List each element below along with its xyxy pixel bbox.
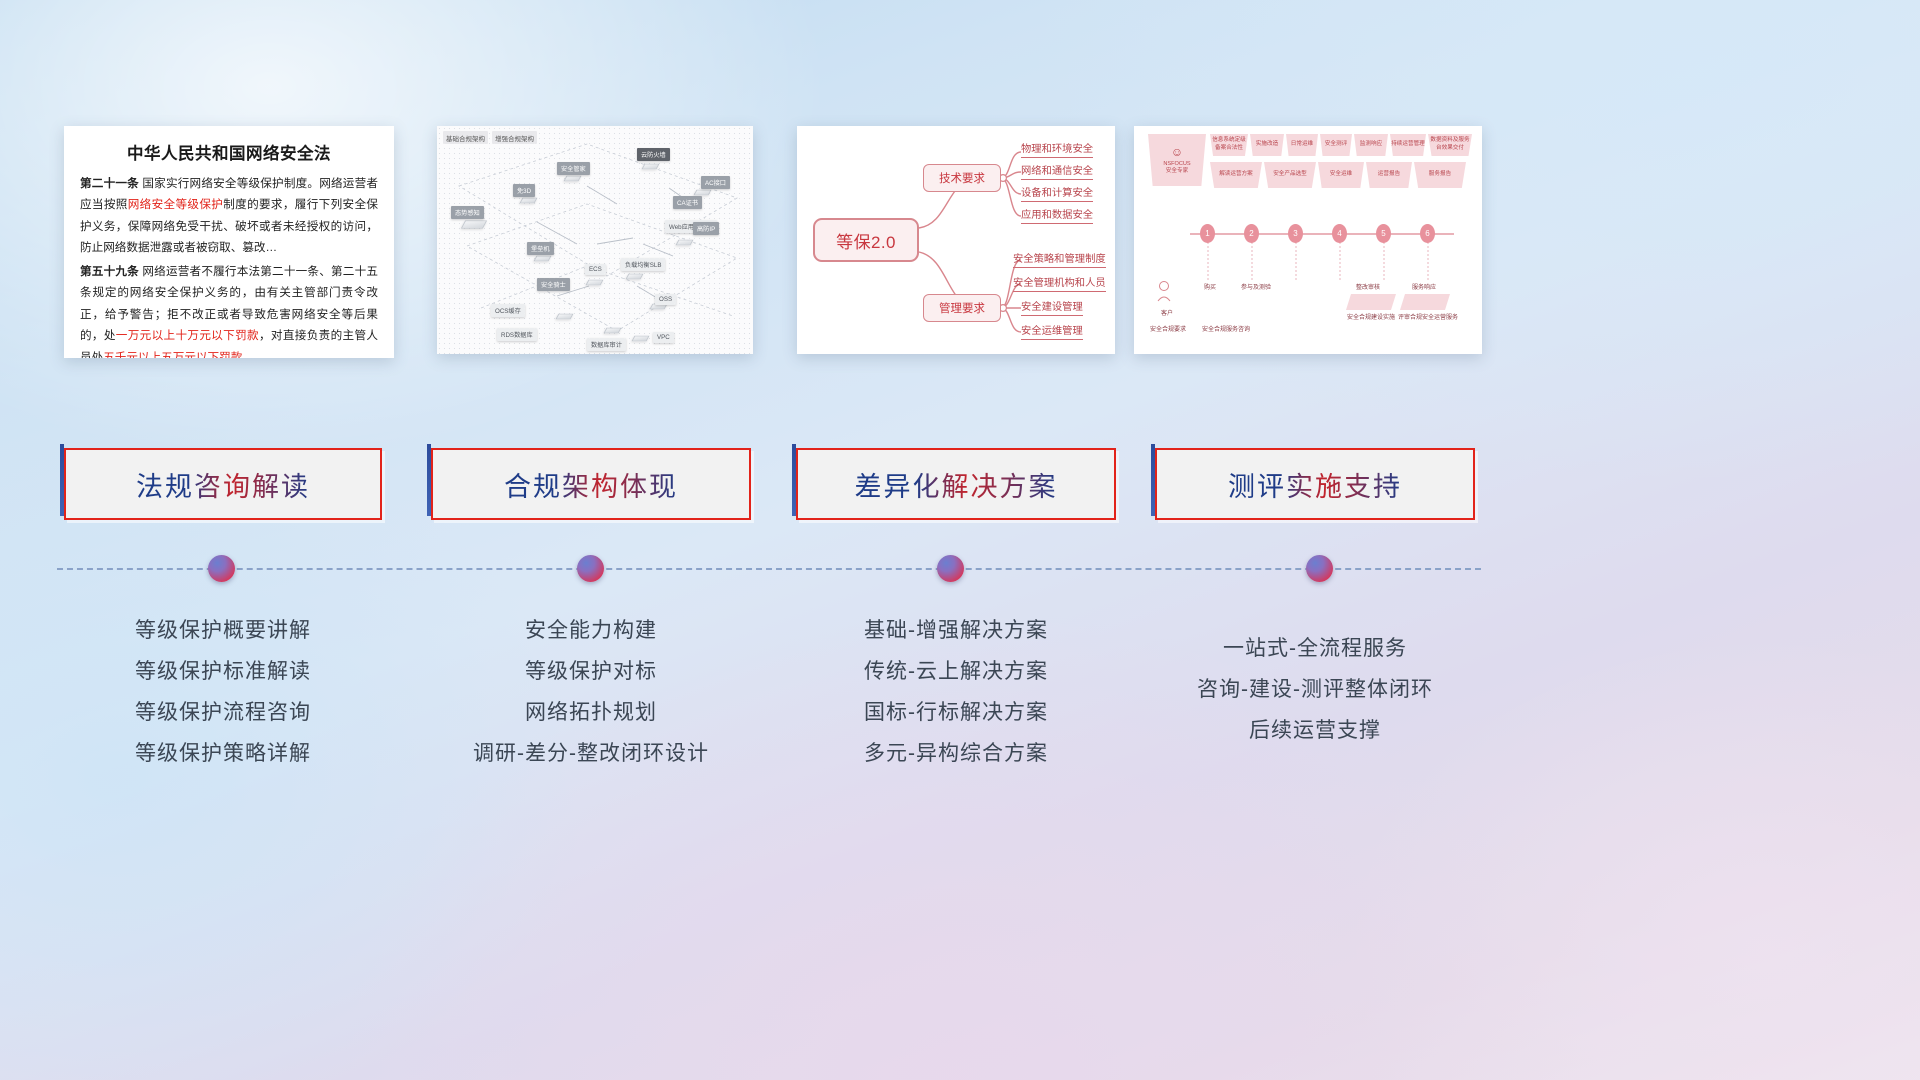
- timeline-dot-1[interactable]: [208, 555, 235, 582]
- article-59-label: 第五十九条: [80, 265, 139, 278]
- node-cloud-firewall: 云防火墙: [637, 148, 670, 161]
- nsfocus-step-1[interactable]: 1: [1200, 224, 1215, 243]
- node-rds-db: RDS数据库: [497, 328, 537, 341]
- timeline-dashed-axis: [57, 568, 1481, 570]
- nsfocus-chevron-6: 持续运营管理: [1390, 134, 1426, 156]
- nsfocus-sub-label-3: 安全合规建设实施: [1342, 312, 1400, 321]
- cube-cloud-firewall: [642, 164, 660, 170]
- article-21-highlight: 网络安全等级保护: [128, 198, 223, 211]
- law-text-block: 中华人民共和国网络安全法 第二十一条 国家实行网络安全等级保护制度。网络运营者应…: [64, 126, 394, 358]
- node-ocs-cache: OCS缓存: [491, 304, 525, 317]
- pill-label-4: 测评实施支持: [1228, 465, 1402, 504]
- pill-buttons-row: 法规咨询解读 合规架构体现 差异化解决方案 测评实施支持: [0, 448, 1920, 520]
- list-item: 网络拓扑规划: [431, 692, 751, 733]
- nsfocus-bottom-actor: 客户: [1150, 308, 1184, 317]
- list-item: 传统-云上解决方案: [796, 651, 1116, 692]
- nsfocus-brand: NSFOCUS: [1163, 161, 1190, 169]
- nsfocus-phase-3: 安全运维: [1318, 162, 1364, 188]
- nsfocus-chevron-2: 实施改造: [1250, 134, 1284, 156]
- card-nsfocus-service-flow[interactable]: ☺ NSFOCUS 安全专家 信息系统定级备案合法性 实施改造 日常运维 安全测…: [1134, 126, 1482, 354]
- nsfocus-phase-4: 运营报告: [1366, 162, 1412, 188]
- list-item: 一站式-全流程服务: [1155, 628, 1475, 669]
- nsfocus-bottom-label-2: 参与及测验: [1230, 282, 1282, 291]
- node-security-knight: 安全骑士: [537, 278, 570, 291]
- nsfocus-bottom-label-4: 服务响应: [1402, 282, 1446, 291]
- architecture-connectors: [437, 126, 753, 354]
- mindmap: 等保2.0 技术要求 管理要求 物理和环境安全 网络和通信安全 设备和计算安全 …: [797, 126, 1115, 354]
- mindmap-branch-technical[interactable]: 技术要求: [923, 164, 1001, 192]
- nsfocus-step-4[interactable]: 4: [1332, 224, 1347, 243]
- node-slb: 负载均衡SLB: [621, 258, 665, 271]
- nsfocus-bottom-chevron-2: [1400, 294, 1450, 310]
- node-mian3d: 免3D: [513, 184, 535, 197]
- list-item: 等级保护流程咨询: [64, 692, 382, 733]
- architecture-diagram: 基础合规架构 增强合规架构: [437, 126, 753, 354]
- mindmap-leaf-build-mgmt[interactable]: 安全建设管理: [1021, 298, 1083, 316]
- mindmap-leaf-network-comm[interactable]: 网络和通信安全: [1021, 162, 1093, 180]
- mindmap-leaf-policy-system[interactable]: 安全策略和管理制度: [1013, 250, 1106, 268]
- nsfocus-brand-block: ☺ NSFOCUS 安全专家: [1148, 134, 1206, 186]
- list-item: 等级保护概要讲解: [64, 610, 382, 651]
- nsfocus-phase-5: 服务报告: [1414, 162, 1466, 188]
- cube-ecs: [586, 280, 604, 286]
- list-item: 等级保护对标: [431, 651, 751, 692]
- cube-db-audit: [604, 328, 622, 334]
- pill-button-regulation-consulting[interactable]: 法规咨询解读: [64, 448, 382, 520]
- node-ac-interface: AC接口: [701, 176, 730, 189]
- cards-row: 中华人民共和国网络安全法 第二十一条 国家实行网络安全等级保护制度。网络运营者应…: [0, 126, 1920, 360]
- article-59-highlight-1: 一万元以上十万元以下罚款: [116, 329, 259, 342]
- card-cybersecurity-law[interactable]: 中华人民共和国网络安全法 第二十一条 国家实行网络安全等级保护制度。网络运营者应…: [64, 126, 394, 358]
- node-oss: OSS: [655, 294, 676, 305]
- nsfocus-chevron-1: 信息系统定级备案合法性: [1210, 134, 1248, 156]
- list-item: 咨询-建设-测评整体闭环: [1155, 669, 1475, 710]
- card-dengbao-mindmap[interactable]: 等保2.0 技术要求 管理要求 物理和环境安全 网络和通信安全 设备和计算安全 …: [797, 126, 1115, 354]
- cube-security-butler: [564, 176, 582, 182]
- cube-situational-awareness: [461, 220, 487, 228]
- node-bastion-host: 堡垒机: [527, 242, 554, 255]
- article-59-highlight-2: 五千元以上五万元以下罚款。: [103, 351, 254, 359]
- nsfocus-step-6[interactable]: 6: [1420, 224, 1435, 243]
- list-item: 调研-差分-整改闭环设计: [431, 733, 751, 774]
- article-21-label: 第二十一条: [80, 177, 139, 190]
- cube-rds: [556, 314, 574, 320]
- timeline-dot-4[interactable]: [1306, 555, 1333, 582]
- nsfocus-sub-label-2: 安全合规服务咨询: [1196, 324, 1256, 333]
- mindmap-branch-management[interactable]: 管理要求: [923, 294, 1001, 322]
- node-situational-awareness: 态势感知: [451, 206, 484, 219]
- pill-label-2: 合规架构体现: [504, 465, 678, 504]
- nsfocus-chevron-7: 数据资料及服务台效果交付: [1428, 134, 1472, 156]
- law-article-59: 第五十九条 网络运营者不履行本法第二十一条、第二十五条规定的网络安全保护义务的，…: [80, 261, 378, 358]
- list-item: 国标-行标解决方案: [796, 692, 1116, 733]
- nsfocus-brand-sub: 安全专家: [1166, 168, 1188, 176]
- nsfocus-chevron-5: 监测响应: [1354, 134, 1388, 156]
- list-item: 等级保护标准解读: [64, 651, 382, 692]
- node-db-audit: 数据库审计: [587, 338, 626, 351]
- nsfocus-bottom-label-1: 购买: [1192, 282, 1228, 291]
- nsfocus-expert-icon: ☺: [1171, 144, 1183, 160]
- mindmap-leaf-physical-env[interactable]: 物理和环境安全: [1021, 140, 1093, 158]
- list-column-3: 基础-增强解决方案 传统-云上解决方案 国标-行标解决方案 多元-异构综合方案: [796, 610, 1116, 774]
- list-item: 后续运营支撑: [1155, 710, 1475, 751]
- nsfocus-phase-2: 安全产品选型: [1264, 162, 1316, 188]
- cube-vpc: [632, 336, 650, 342]
- pill-button-compliance-architecture[interactable]: 合规架构体现: [431, 448, 751, 520]
- pill-label-3: 差异化解决方案: [855, 465, 1058, 504]
- mindmap-root-node[interactable]: 等保2.0: [813, 218, 919, 262]
- nsfocus-step-5[interactable]: 5: [1376, 224, 1391, 243]
- cube-bastion-host: [534, 256, 552, 262]
- list-item: 安全能力构建: [431, 610, 751, 651]
- pill-button-evaluation-support[interactable]: 测评实施支持: [1155, 448, 1475, 520]
- list-column-2: 安全能力构建 等级保护对标 网络拓扑规划 调研-差分-整改闭环设计: [431, 610, 751, 774]
- timeline-dot-3[interactable]: [937, 555, 964, 582]
- nsfocus-bottom-label-3: 整改审核: [1346, 282, 1390, 291]
- cube-ac: [694, 190, 712, 196]
- nsfocus-chevron-3: 日常运维: [1286, 134, 1318, 156]
- nsfocus-flow: ☺ NSFOCUS 安全专家 信息系统定级备案合法性 实施改造 日常运维 安全测…: [1134, 126, 1482, 354]
- node-security-butler: 安全管家: [557, 162, 590, 175]
- law-title: 中华人民共和国网络安全法: [80, 140, 378, 164]
- mindmap-leaf-ops-mgmt[interactable]: 安全运维管理: [1021, 322, 1083, 340]
- mindmap-leaf-org-personnel[interactable]: 安全管理机构和人员: [1013, 274, 1106, 292]
- nsfocus-step-2[interactable]: 2: [1244, 224, 1259, 243]
- nsfocus-sub-label-1: 安全合规要求: [1144, 324, 1192, 333]
- nsfocus-bottom-chevron-1: [1346, 294, 1396, 310]
- list-column-1: 等级保护概要讲解 等级保护标准解读 等级保护流程咨询 等级保护策略详解: [64, 610, 382, 774]
- nsfocus-chevron-4: 安全测评: [1320, 134, 1352, 156]
- node-ca-cert: CA证书: [673, 196, 702, 209]
- list-item: 多元-异构综合方案: [796, 733, 1116, 774]
- list-column-4: 一站式-全流程服务 咨询-建设-测评整体闭环 后续运营支撑: [1155, 628, 1475, 751]
- node-vpc: VPC: [653, 332, 674, 343]
- card-compliance-architecture[interactable]: 基础合规架构 增强合规架构: [437, 126, 753, 354]
- cube-免3D: [520, 198, 538, 204]
- law-article-21: 第二十一条 国家实行网络安全等级保护制度。网络运营者应当按照网络安全等级保护制度…: [80, 173, 378, 259]
- pill-label-1: 法规咨询解读: [136, 465, 310, 504]
- list-item: 基础-增强解决方案: [796, 610, 1116, 651]
- nsfocus-phase-1: 解读运营方案: [1210, 162, 1262, 188]
- node-anti-ddos-ip: 高防IP: [693, 222, 719, 235]
- cube-waf: [676, 240, 694, 246]
- list-item: 等级保护策略详解: [64, 733, 382, 774]
- nsfocus-sub-label-4: 评审合规安全运营服务: [1398, 312, 1456, 321]
- nsfocus-step-3[interactable]: 3: [1288, 224, 1303, 243]
- timeline-dot-2[interactable]: [577, 555, 604, 582]
- pill-button-differentiated-solution[interactable]: 差异化解决方案: [796, 448, 1116, 520]
- mindmap-leaf-device-compute[interactable]: 设备和计算安全: [1021, 184, 1093, 202]
- mindmap-leaf-app-data[interactable]: 应用和数据安全: [1021, 206, 1093, 224]
- cube-slb: [626, 274, 644, 280]
- node-ecs: ECS: [585, 264, 606, 275]
